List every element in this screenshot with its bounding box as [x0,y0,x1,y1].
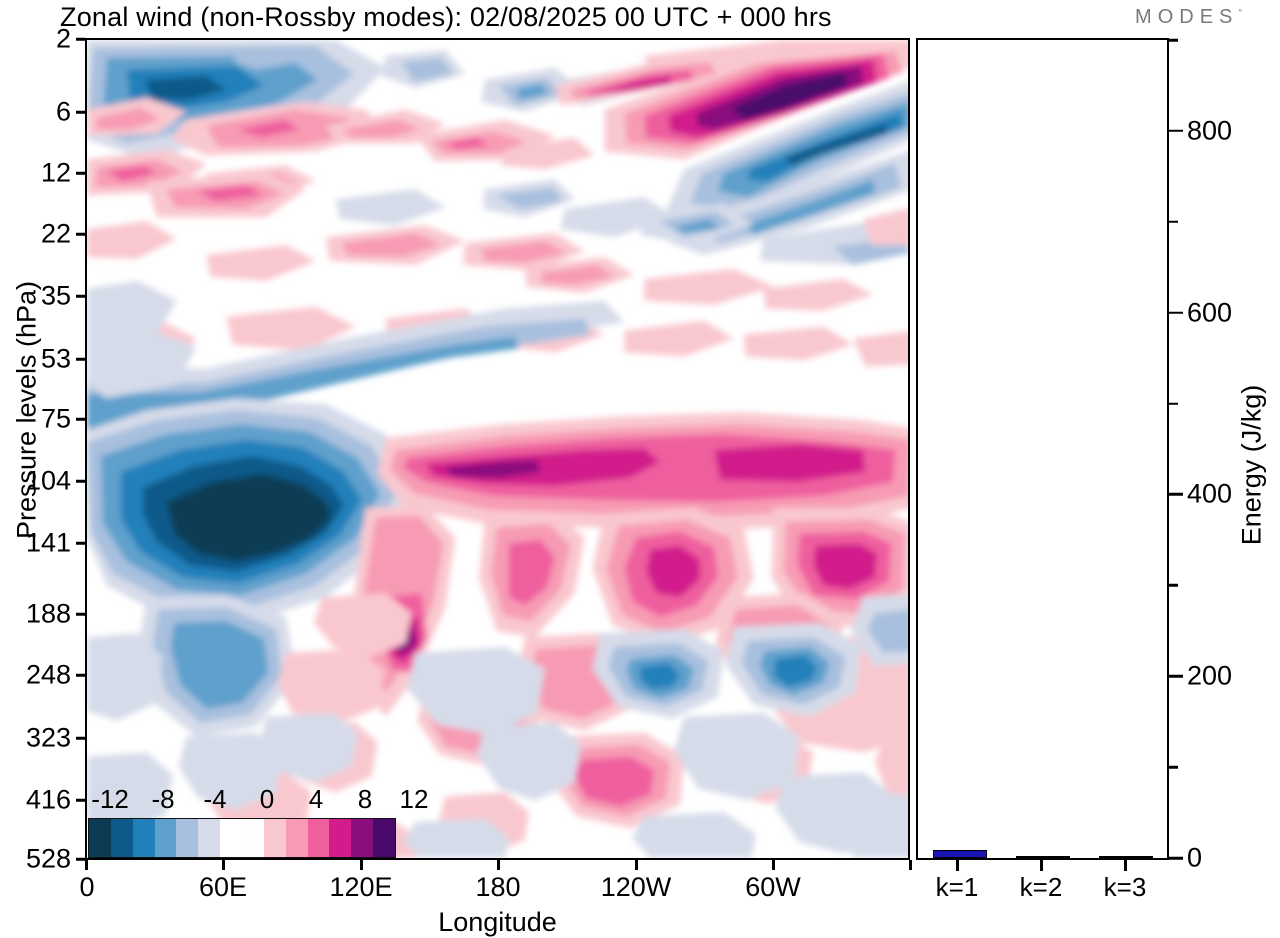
y-axis-title: Pressure levels (hPa) [10,150,44,670]
energy-bar[interactable] [1016,856,1070,858]
y-tick [76,358,85,361]
y-label: 53 [41,344,71,375]
contour-svg [87,40,908,858]
y-tick [76,418,85,421]
y-tick [76,542,85,545]
x-axis-title: Longitude [85,907,910,938]
colorbar-swatch [198,819,220,857]
y-tick [76,233,85,236]
k-tick [1040,860,1043,871]
energy-tick-label: 200 [1187,661,1232,692]
y-label: 323 [26,723,71,754]
energy-axis-title-text: Energy (J/kg) [1237,385,1268,546]
colorbar-swatch [89,819,111,857]
energy-bar[interactable] [933,850,987,858]
energy-tick-label: 800 [1187,115,1232,146]
colorbar-tick-label: -12 [91,784,129,815]
colorbar-swatch [351,819,373,857]
colorbar-swatch [242,819,264,857]
x-label: 120E [329,872,392,903]
energy-bar-fill [933,850,987,858]
colorbar-swatch [155,819,177,857]
logo-mark-icon: ° [1238,7,1242,17]
energy-tick-major [1169,675,1183,678]
energy-tick-label: 400 [1187,479,1232,510]
y-tick [76,111,85,114]
x-tick [772,860,775,870]
energy-tick-major [1169,130,1183,133]
colorbar-swatch [264,819,286,857]
contour-plot-panel [85,38,910,860]
page-title: Zonal wind (non-Rossby modes): 02/08/202… [60,2,832,33]
energy-tick-label: 0 [1187,843,1202,874]
energy-tick-label: 600 [1187,297,1232,328]
modes-logo: MODES° [1135,6,1242,29]
energy-tick-major [1169,493,1183,496]
colorbar [88,818,396,858]
x-tick [635,860,638,870]
y-tick [76,38,85,41]
x-tick [222,860,225,870]
x-label: 120W [601,872,672,903]
longitude-axis: 0 60E 120E 180 120W 60W Longitude [85,860,910,930]
y-label: 75 [41,404,71,435]
colorbar-tick-label: 12 [400,784,429,815]
colorbar-labels: -12 -8 -4 0 4 8 12 [80,784,410,816]
energy-bar-panel [916,38,1169,860]
x-label: 0 [79,872,94,903]
y-label: 35 [41,281,71,312]
energy-tick-minor [1169,402,1178,405]
y-tick [76,295,85,298]
x-tick [497,860,500,870]
k-label: k=3 [1104,872,1147,903]
colorbar-tick-label: 8 [358,784,372,815]
y-axis-title-text: Pressure levels (hPa) [12,281,43,539]
y-tick [76,613,85,616]
x-label: 60E [199,872,247,903]
y-label: 2 [56,24,71,55]
colorbar-swatch [308,819,330,857]
k-labels: k=1 k=2 k=3 [916,872,1169,912]
y-tick [76,172,85,175]
x-tick [360,860,363,870]
y-label: 22 [41,219,71,250]
colorbar-tick-label: 4 [309,784,323,815]
energy-tick-minor [1169,39,1178,42]
colorbar-swatch [329,819,351,857]
energy-tick-major [1169,311,1183,314]
k-tick [1124,860,1127,871]
k-ticks [916,860,1169,872]
y-label: 12 [41,158,71,189]
energy-axis-title: Energy (J/kg) [1232,300,1272,630]
x-label: 180 [475,872,520,903]
k-tick [956,860,959,871]
energy-bar-fill [1016,856,1070,858]
colorbar-tick-label: -8 [151,784,174,815]
colorbar-tick-label: 0 [260,784,274,815]
energy-tick-minor [1169,584,1178,587]
colorbar-swatch [111,819,133,857]
k-label: k=2 [1020,872,1063,903]
energy-tick-minor [1169,766,1178,769]
energy-tick-major [1169,857,1183,860]
y-tick [76,737,85,740]
colorbar-swatch [176,819,198,857]
colorbar-swatch [133,819,155,857]
y-label: 6 [56,97,71,128]
y-label: 416 [26,785,71,816]
energy-bars [918,40,1167,858]
logo-text: MODES [1135,6,1238,28]
colorbar-tick-label: -4 [203,784,226,815]
energy-bar-fill [1099,856,1153,858]
colorbar-swatch [373,819,395,857]
energy-tick-minor [1169,221,1178,224]
colorbar-swatch [286,819,308,857]
x-label: 60W [745,872,801,903]
y-tick [76,480,85,483]
y-label: 528 [26,844,71,875]
x-tick [85,860,88,870]
x-tick [909,860,912,870]
colorbar-swatch [220,819,242,857]
k-label: k=1 [936,872,979,903]
y-tick [76,858,85,861]
energy-bar[interactable] [1099,856,1153,858]
contour-field [87,40,908,858]
y-tick [76,674,85,677]
